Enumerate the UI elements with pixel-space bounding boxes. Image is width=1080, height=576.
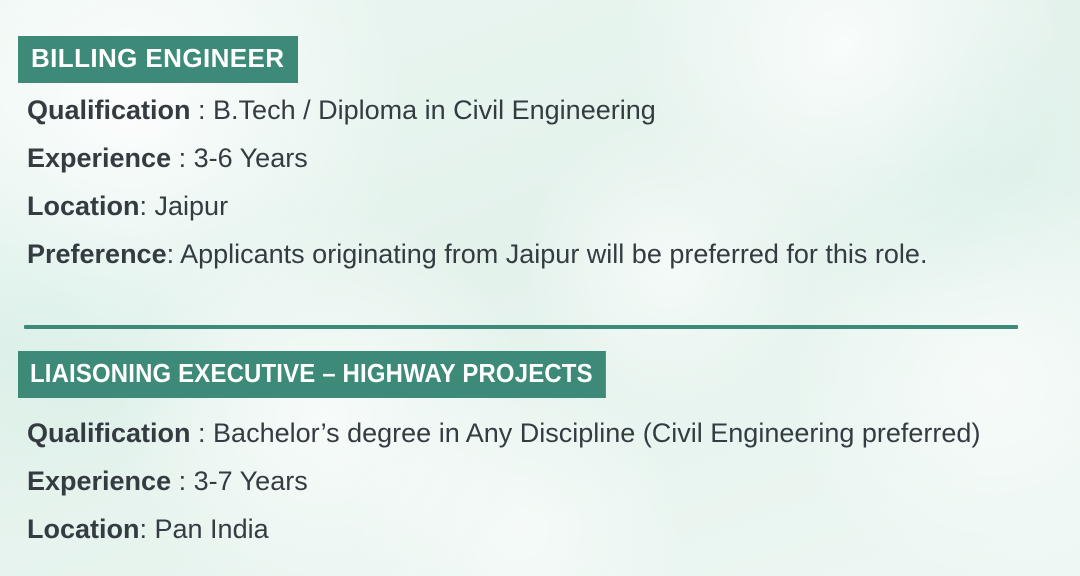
detail-label-location: Location <box>27 191 140 221</box>
detail-label-qualification: Qualification <box>27 95 191 125</box>
detail-value-preference: Applicants originating from Jaipur will … <box>180 239 927 269</box>
job-title-badge-label: BILLING ENGINEER <box>18 36 298 83</box>
detail-value-experience: 3-6 Years <box>194 143 308 173</box>
job-details-billing-engineer: Qualification : B.Tech / Diploma in Civi… <box>27 86 927 278</box>
job-title-badge-liaisoning-executive: LIAISONING EXECUTIVE – HIGHWAY PROJECTS <box>18 351 657 398</box>
detail-separator-experience: : <box>171 143 194 173</box>
detail-row-location: Location: Jaipur <box>27 182 927 230</box>
detail-value-location: Jaipur <box>155 191 229 221</box>
detail-row-location: Location: Pan India <box>27 505 980 553</box>
detail-row-preference: Preference: Applicants originating from … <box>27 230 927 278</box>
detail-row-qualification: Qualification : Bachelor’s degree in Any… <box>27 409 980 457</box>
detail-value-location: Pan India <box>155 514 269 544</box>
detail-separator-qualification: : <box>191 418 214 448</box>
job-posting-poster: BILLING ENGINEER Qualification : B.Tech … <box>0 0 1080 576</box>
detail-separator-location: : <box>140 514 155 544</box>
detail-value-qualification: Bachelor’s degree in Any Discipline (Civ… <box>213 418 980 448</box>
detail-separator-qualification: : <box>191 95 214 125</box>
section-divider <box>24 325 1018 329</box>
detail-label-preference: Preference <box>27 239 167 269</box>
detail-separator-experience: : <box>171 466 194 496</box>
detail-row-experience: Experience : 3-6 Years <box>27 134 927 182</box>
job-title-badge-billing-engineer: BILLING ENGINEER <box>18 36 298 83</box>
detail-value-experience: 3-7 Years <box>194 466 308 496</box>
detail-label-experience: Experience <box>27 143 171 173</box>
job-title-badge-label: LIAISONING EXECUTIVE – HIGHWAY PROJECTS <box>18 351 606 398</box>
job-details-liaisoning-executive: Qualification : Bachelor’s degree in Any… <box>27 409 980 553</box>
detail-separator-preference: : <box>167 239 181 269</box>
detail-separator-location: : <box>140 191 155 221</box>
detail-row-experience: Experience : 3-7 Years <box>27 457 980 505</box>
detail-label-qualification: Qualification <box>27 418 191 448</box>
detail-label-experience: Experience <box>27 466 171 496</box>
detail-value-qualification: B.Tech / Diploma in Civil Engineering <box>213 95 656 125</box>
detail-row-qualification: Qualification : B.Tech / Diploma in Civi… <box>27 86 927 134</box>
detail-label-location: Location <box>27 514 140 544</box>
